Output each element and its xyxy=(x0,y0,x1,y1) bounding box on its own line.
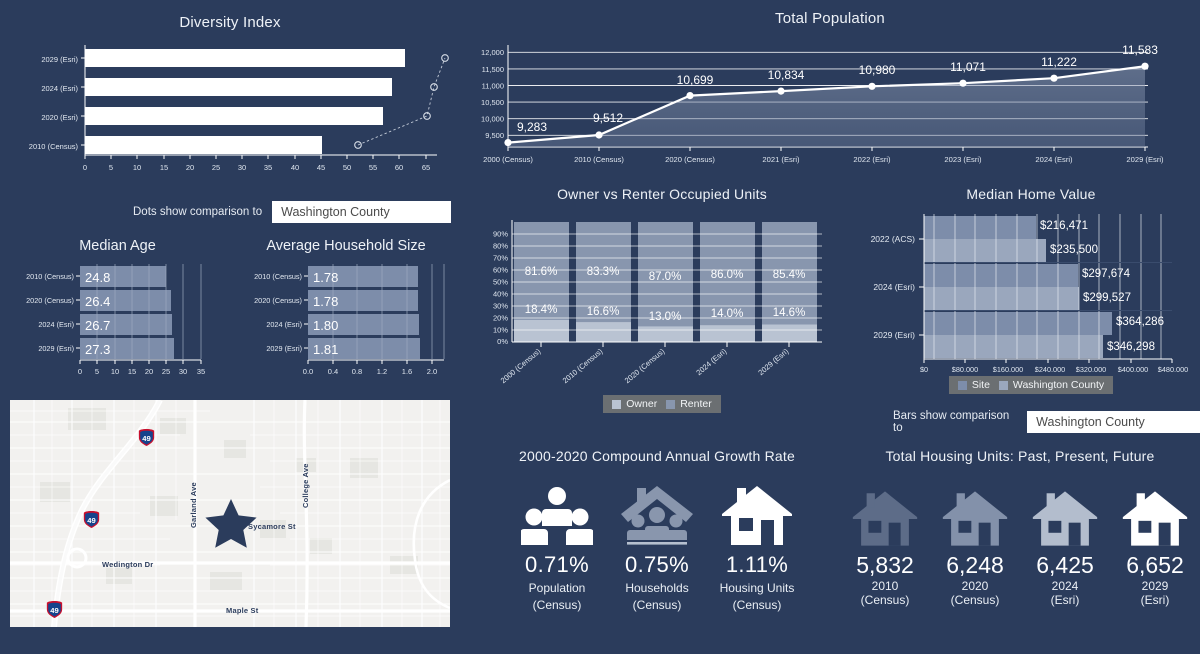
svg-text:$364,286: $364,286 xyxy=(1116,316,1164,328)
map-graphics xyxy=(10,400,450,627)
svg-text:2021 (Esri): 2021 (Esri) xyxy=(762,155,800,164)
svg-text:18.4%: 18.4% xyxy=(525,304,558,316)
median-home-value-title: Median Home Value xyxy=(862,186,1200,202)
svg-text:20: 20 xyxy=(145,367,153,376)
cagr-stats: 0.71% Population (Census) xyxy=(462,480,852,612)
cagr-title: 2000-2020 Compound Annual Growth Rate xyxy=(462,448,852,464)
svg-text:2020 (Census): 2020 (Census) xyxy=(665,155,715,164)
svg-text:10%: 10% xyxy=(493,326,508,335)
svg-text:$80,000: $80,000 xyxy=(952,365,978,372)
interstate-49-shield-icon: 49 xyxy=(83,510,100,529)
svg-text:26.7: 26.7 xyxy=(85,318,110,333)
house-icon xyxy=(840,480,930,550)
svg-text:2010 (Census): 2010 (Census) xyxy=(254,272,302,281)
svg-text:90%: 90% xyxy=(493,230,508,239)
dots-comparison-row: Dots show comparison to xyxy=(133,201,451,223)
legend-label-renter: Renter xyxy=(680,398,712,410)
svg-text:35: 35 xyxy=(197,367,205,376)
diversity-index-panel: Diversity Index 2029 (Esri) 2024 (Esri) … xyxy=(0,0,460,190)
housing-value-2029: 6,652 xyxy=(1110,552,1200,579)
svg-text:60%: 60% xyxy=(493,266,508,275)
svg-text:25: 25 xyxy=(162,367,170,376)
svg-text:2029 (Esri): 2029 (Esri) xyxy=(873,330,915,340)
svg-text:2029 (Esri): 2029 (Esri) xyxy=(41,55,78,64)
owner-renter-title: Owner vs Renter Occupied Units xyxy=(462,186,862,202)
svg-text:10,980: 10,980 xyxy=(859,63,896,77)
svg-text:2024 (Esri): 2024 (Esri) xyxy=(41,84,78,93)
owner-swatch xyxy=(612,400,621,409)
svg-text:10: 10 xyxy=(133,163,141,172)
svg-text:86.0%: 86.0% xyxy=(711,269,744,281)
median-home-value-legend: Site Washington County xyxy=(949,376,1113,394)
svg-text:0.4: 0.4 xyxy=(328,367,338,376)
svg-text:30: 30 xyxy=(238,163,246,172)
interstate-49-shield-icon: 49 xyxy=(46,600,63,619)
owner-renter-legend: Owner Renter xyxy=(603,395,720,413)
svg-text:10: 10 xyxy=(111,367,119,376)
svg-text:$480,000: $480,000 xyxy=(1158,365,1188,372)
cagr-value-housing-units: 1.11% xyxy=(707,552,807,578)
svg-text:2010 (Census): 2010 (Census) xyxy=(26,272,74,281)
svg-text:1.78: 1.78 xyxy=(313,270,338,285)
svg-text:$216,471: $216,471 xyxy=(1040,220,1088,232)
cagr-stat-population: 0.71% Population (Census) xyxy=(507,480,607,612)
svg-text:14.0%: 14.0% xyxy=(711,308,744,320)
svg-text:12,000: 12,000 xyxy=(481,48,504,57)
svg-text:49: 49 xyxy=(142,434,151,443)
svg-text:9,512: 9,512 xyxy=(593,111,623,125)
svg-text:2023 (Esri): 2023 (Esri) xyxy=(944,155,982,164)
svg-text:$235,500: $235,500 xyxy=(1050,244,1098,256)
svg-text:1.81: 1.81 xyxy=(313,342,338,357)
total-population-panel: Total Population 9,500 10,000 xyxy=(460,0,1200,180)
housing-units-panel: Total Housing Units: Past, Present, Futu… xyxy=(840,448,1200,654)
svg-text:2029 (Esri): 2029 (Esri) xyxy=(1126,155,1164,164)
housing-caption-2020: 2020 xyxy=(930,579,1020,593)
cagr-caption-households-src: (Census) xyxy=(607,598,707,612)
housing-stat-2024: 6,425 2024 (Esri) xyxy=(1020,480,1110,607)
diversity-index-title: Diversity Index xyxy=(0,14,460,31)
svg-text:40: 40 xyxy=(291,163,299,172)
household-size-panel: Average Household Size 1.78 1.78 1.80 1.… xyxy=(232,238,460,383)
housing-caption-2029-src: (Esri) xyxy=(1110,593,1200,607)
svg-text:40%: 40% xyxy=(493,290,508,299)
svg-text:2020 (Esri): 2020 (Esri) xyxy=(41,113,78,122)
housing-stat-2010: 5,832 2010 (Census) xyxy=(840,480,930,607)
svg-text:$0: $0 xyxy=(920,365,928,372)
dots-comparison-label: Dots show comparison to xyxy=(133,206,262,218)
interstate-49-shield-icon: 49 xyxy=(138,428,155,447)
median-home-value-chart: 2022 (ACS) 2024 (Esri) 2029 (Esri) $216,… xyxy=(862,202,1200,372)
svg-text:2010 (Census): 2010 (Census) xyxy=(574,155,624,164)
svg-text:$299,527: $299,527 xyxy=(1083,292,1131,304)
svg-text:5: 5 xyxy=(109,163,113,172)
legend-label-owner: Owner xyxy=(626,398,657,410)
housing-value-2010: 5,832 xyxy=(840,552,930,579)
svg-text:0: 0 xyxy=(83,163,87,172)
svg-text:11,000: 11,000 xyxy=(482,82,504,91)
svg-text:2029 (Esri): 2029 (Esri) xyxy=(266,344,302,353)
map-label-wedington-dr: Wedington Dr xyxy=(102,560,153,569)
map-label-garland-ave: Garland Ave xyxy=(189,482,198,528)
county-swatch xyxy=(999,381,1008,390)
svg-text:11,071: 11,071 xyxy=(950,60,986,74)
housing-units-stats: 5,832 2010 (Census) 6,248 2020 (Census) xyxy=(840,480,1200,607)
map-label-sycamore-st: Sycamore St xyxy=(248,522,296,531)
svg-text:10,834: 10,834 xyxy=(768,68,805,82)
svg-text:11,222: 11,222 xyxy=(1041,55,1077,69)
cagr-value-population: 0.71% xyxy=(507,552,607,578)
map-label-maple-st: Maple St xyxy=(226,606,258,615)
cagr-caption-housing-units-src: (Census) xyxy=(707,598,807,612)
svg-text:1.78: 1.78 xyxy=(313,294,338,309)
svg-text:0.8: 0.8 xyxy=(352,367,362,376)
svg-text:27.3: 27.3 xyxy=(85,342,110,357)
svg-text:85.4%: 85.4% xyxy=(773,269,806,281)
household-home-icon xyxy=(607,480,707,548)
svg-text:35: 35 xyxy=(264,163,272,172)
map-label-college-ave: College Ave xyxy=(301,463,310,508)
demographics-dashboard: Diversity Index 2029 (Esri) 2024 (Esri) … xyxy=(0,0,1200,654)
map-canvas[interactable]: Sycamore St Garland Ave College Ave Wedi… xyxy=(10,400,450,627)
svg-text:1.2: 1.2 xyxy=(377,367,387,376)
household-size-chart: 1.78 1.78 1.80 1.81 2010 (Census) 2020 (… xyxy=(232,260,460,378)
svg-text:2.0: 2.0 xyxy=(427,367,437,376)
svg-text:49: 49 xyxy=(50,606,59,615)
housing-caption-2024-src: (Esri) xyxy=(1020,593,1110,607)
cagr-caption-population: Population xyxy=(507,581,607,595)
svg-text:$346,298: $346,298 xyxy=(1107,341,1155,353)
housing-caption-2020-src: (Census) xyxy=(930,593,1020,607)
svg-text:2024 (Esri): 2024 (Esri) xyxy=(873,282,915,292)
svg-text:20: 20 xyxy=(186,163,194,172)
cagr-stat-housing-units: 1.11% Housing Units (Census) xyxy=(707,480,807,612)
median-home-value-panel: Median Home Value xyxy=(862,186,1200,406)
housing-stat-2029: 6,652 2029 (Esri) xyxy=(1110,480,1200,607)
cagr-stat-households: 0.75% Households (Census) xyxy=(607,480,707,612)
svg-text:60: 60 xyxy=(395,163,403,172)
svg-text:24.8: 24.8 xyxy=(85,270,110,285)
svg-text:2020 (Census): 2020 (Census) xyxy=(254,296,302,305)
cagr-value-households: 0.75% xyxy=(607,552,707,578)
svg-text:65: 65 xyxy=(422,163,430,172)
svg-text:1.6: 1.6 xyxy=(402,367,412,376)
svg-text:2020 (Census): 2020 (Census) xyxy=(26,296,74,305)
svg-text:15: 15 xyxy=(160,163,168,172)
house-icon xyxy=(707,480,807,548)
house-icon xyxy=(1020,480,1110,550)
housing-stat-2020: 6,248 2020 (Census) xyxy=(930,480,1020,607)
svg-text:2000 (Census): 2000 (Census) xyxy=(483,155,533,164)
svg-text:70%: 70% xyxy=(493,254,508,263)
svg-text:2022 (Esri): 2022 (Esri) xyxy=(853,155,891,164)
total-population-chart: 9,500 10,000 10,500 11,000 11,500 12,000… xyxy=(460,27,1200,172)
legend-item-washington-county: Washington County xyxy=(999,379,1104,391)
legend-label-site: Site xyxy=(972,379,990,391)
median-age-chart: 24.8 26.4 26.7 27.3 2010 (Census) 2020 (… xyxy=(5,260,230,378)
house-icon xyxy=(1110,480,1200,550)
svg-text:$320,000: $320,000 xyxy=(1076,365,1106,372)
median-age-title: Median Age xyxy=(5,238,230,254)
legend-item-owner: Owner xyxy=(612,398,657,410)
svg-text:$400,000: $400,000 xyxy=(1118,365,1148,372)
housing-units-title: Total Housing Units: Past, Present, Futu… xyxy=(840,448,1200,464)
svg-text:81.6%: 81.6% xyxy=(525,266,558,278)
housing-value-2024: 6,425 xyxy=(1020,552,1110,579)
svg-text:9,283: 9,283 xyxy=(517,120,547,134)
total-population-title: Total Population xyxy=(460,10,1200,27)
svg-text:2024 (Esri): 2024 (Esri) xyxy=(266,320,302,329)
svg-text:$240,000: $240,000 xyxy=(1035,365,1065,372)
diversity-index-chart: 2029 (Esri) 2024 (Esri) 2020 (Esri) 2010… xyxy=(0,31,460,181)
legend-item-site: Site xyxy=(958,379,990,391)
svg-text:1.80: 1.80 xyxy=(313,318,338,333)
svg-text:2020 (Census): 2020 (Census) xyxy=(623,346,667,385)
svg-text:14.6%: 14.6% xyxy=(773,307,806,319)
svg-text:80%: 80% xyxy=(493,242,508,251)
svg-text:55: 55 xyxy=(369,163,377,172)
svg-text:87.0%: 87.0% xyxy=(649,271,682,283)
svg-text:16.6%: 16.6% xyxy=(587,306,620,318)
svg-text:2029 (Esri): 2029 (Esri) xyxy=(756,346,790,377)
cagr-caption-households: Households xyxy=(607,581,707,595)
svg-text:2029 (Esri): 2029 (Esri) xyxy=(38,344,74,353)
svg-text:25: 25 xyxy=(212,163,220,172)
svg-text:0%: 0% xyxy=(497,337,508,346)
svg-text:$160,000: $160,000 xyxy=(993,365,1023,372)
svg-text:49: 49 xyxy=(87,516,96,525)
svg-text:2010 (Census): 2010 (Census) xyxy=(29,142,79,151)
bars-comparison-row: Bars show comparison to xyxy=(893,410,1200,434)
svg-text:5: 5 xyxy=(95,367,99,376)
housing-caption-2010-src: (Census) xyxy=(840,593,930,607)
svg-text:0.0: 0.0 xyxy=(303,367,313,376)
cagr-caption-housing-units: Housing Units xyxy=(707,581,807,595)
svg-text:0: 0 xyxy=(78,367,82,376)
owner-renter-chart: 0%10% 20%30% 40%50% 60%70% 80%90% 81.6% … xyxy=(462,202,862,397)
housing-caption-2029: 2029 xyxy=(1110,579,1200,593)
legend-item-renter: Renter xyxy=(666,398,712,410)
bars-comparison-input[interactable] xyxy=(1027,411,1200,433)
svg-text:2022 (ACS): 2022 (ACS) xyxy=(871,234,916,244)
svg-text:15: 15 xyxy=(128,367,136,376)
svg-text:45: 45 xyxy=(317,163,325,172)
svg-text:11,500: 11,500 xyxy=(482,65,504,74)
people-group-icon xyxy=(507,480,607,548)
svg-text:83.3%: 83.3% xyxy=(587,266,620,278)
svg-text:13.0%: 13.0% xyxy=(649,311,682,323)
bars-comparison-label: Bars show comparison to xyxy=(893,410,1017,434)
svg-text:10,699: 10,699 xyxy=(677,73,714,87)
household-size-title: Average Household Size xyxy=(232,238,460,254)
housing-caption-2024: 2024 xyxy=(1020,579,1110,593)
svg-text:2024 (Esri): 2024 (Esri) xyxy=(1035,155,1073,164)
house-icon xyxy=(930,480,1020,550)
svg-text:2000 (Census): 2000 (Census) xyxy=(499,346,543,385)
renter-swatch xyxy=(666,400,675,409)
owner-renter-panel: Owner vs Renter Occupied Units xyxy=(462,186,862,441)
svg-text:10,000: 10,000 xyxy=(481,115,504,124)
svg-text:50: 50 xyxy=(343,163,351,172)
svg-text:9,500: 9,500 xyxy=(485,131,504,140)
dots-comparison-input[interactable] xyxy=(272,201,451,223)
svg-text:50%: 50% xyxy=(493,278,508,287)
svg-text:26.4: 26.4 xyxy=(85,294,110,309)
svg-text:30: 30 xyxy=(179,367,187,376)
svg-text:$297,674: $297,674 xyxy=(1082,268,1131,280)
cagr-panel: 2000-2020 Compound Annual Growth Rate 0.… xyxy=(462,448,852,654)
svg-text:10,500: 10,500 xyxy=(481,98,504,107)
svg-text:2010 (Census): 2010 (Census) xyxy=(561,346,605,385)
cagr-caption-population-src: (Census) xyxy=(507,598,607,612)
svg-text:2024 (Esri): 2024 (Esri) xyxy=(38,320,74,329)
housing-value-2020: 6,248 xyxy=(930,552,1020,579)
svg-text:20%: 20% xyxy=(493,314,508,323)
svg-text:11,583: 11,583 xyxy=(1122,43,1158,57)
median-age-panel: Median Age 24.8 26.4 26.7 27.3 xyxy=(5,238,230,383)
svg-text:2024 (Esri): 2024 (Esri) xyxy=(694,346,728,377)
site-location-map[interactable]: Sycamore St Garland Ave College Ave Wedi… xyxy=(10,400,450,627)
svg-text:30%: 30% xyxy=(493,302,508,311)
site-swatch xyxy=(958,381,967,390)
legend-label-county: Washington County xyxy=(1013,379,1104,391)
housing-caption-2010: 2010 xyxy=(840,579,930,593)
